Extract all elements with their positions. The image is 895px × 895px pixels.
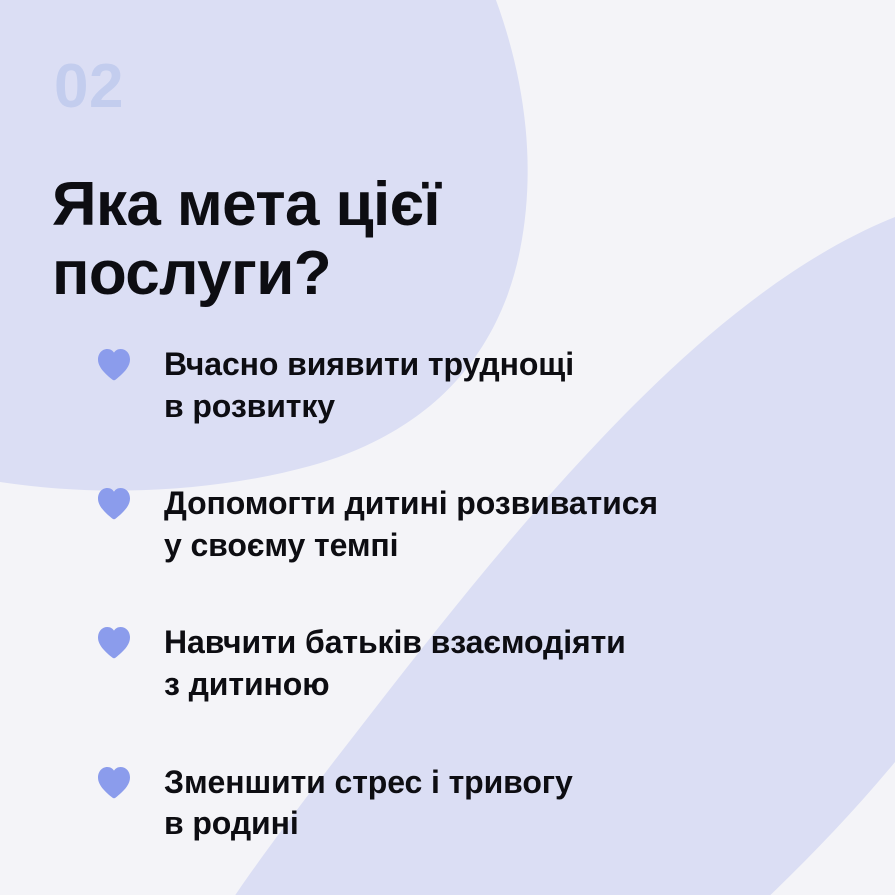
list-item: Допомогти дитині розвиватися у своєму те… (96, 482, 886, 566)
page-title: Яка мета цієї послуги? (52, 170, 672, 309)
heart-icon (96, 486, 132, 520)
eyebrow-number: 02 (54, 56, 124, 118)
benefits-list: Вчасно виявити труднощі в розвитку Допом… (96, 343, 886, 845)
heart-icon (96, 765, 132, 799)
list-item-label: Допомогти дитині розвиватися у своєму те… (164, 482, 658, 566)
heart-icon (96, 625, 132, 659)
list-item: Зменшити стрес і тривогу в родині (96, 761, 886, 845)
list-item-label: Вчасно виявити труднощі в розвитку (164, 343, 574, 427)
slide-canvas: 02 Яка мета цієї послуги? Вчасно виявити… (0, 0, 895, 895)
list-item: Вчасно виявити труднощі в розвитку (96, 343, 886, 427)
list-item: Навчити батьків взаємодіяти з дитиною (96, 621, 886, 705)
list-item-label: Навчити батьків взаємодіяти з дитиною (164, 621, 626, 705)
list-item-label: Зменшити стрес і тривогу в родині (164, 761, 573, 845)
heart-icon (96, 347, 132, 381)
